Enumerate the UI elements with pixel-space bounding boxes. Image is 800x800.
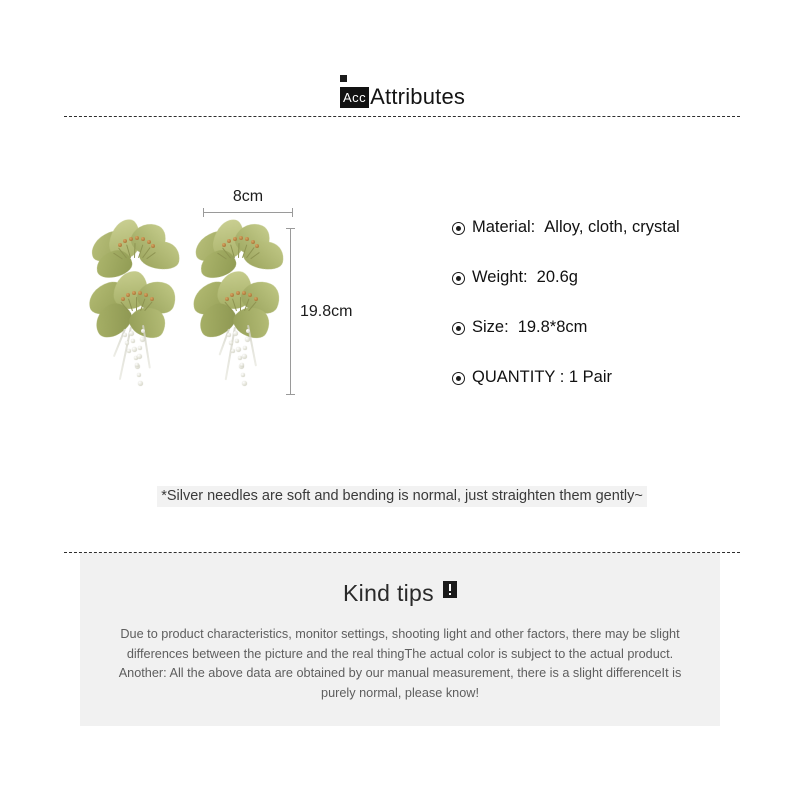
needle-note-text: *Silver needles are soft and bending is … xyxy=(157,486,647,507)
attribute-value: 19.8*8cm xyxy=(518,318,588,337)
attribute-value: Alloy, cloth, crystal xyxy=(544,218,679,237)
kind-tips-panel: Kind tips Due to product characteristics… xyxy=(80,553,720,726)
earring-right xyxy=(192,215,296,400)
target-dot-icon xyxy=(452,272,465,285)
height-measure-line xyxy=(290,228,291,395)
attribute-label: QUANTITY : 1 Pair xyxy=(472,368,612,387)
target-dot-icon xyxy=(452,322,465,335)
square-dot-icon xyxy=(340,75,347,82)
height-label: 19.8cm xyxy=(300,303,352,321)
attribute-label: Size: xyxy=(472,318,509,337)
product-attributes-page: Acc Attributes xyxy=(0,0,800,800)
exclamation-icon xyxy=(443,581,457,598)
attribute-row-size: Size: 19.8*8cm xyxy=(452,318,752,337)
needle-note: *Silver needles are soft and bending is … xyxy=(64,486,740,506)
attribute-row-material: Material: Alloy, cloth, crystal xyxy=(452,218,752,237)
target-dot-icon xyxy=(452,222,465,235)
kind-tips-title-text: Kind tips xyxy=(343,580,434,606)
attribute-label: Material: xyxy=(472,218,535,237)
target-dot-icon xyxy=(452,372,465,385)
acc-badge: Acc xyxy=(340,87,369,108)
product-image xyxy=(72,215,302,415)
attribute-value: 20.6g xyxy=(537,268,578,287)
divider-top xyxy=(64,116,740,117)
page-title: Attributes xyxy=(370,85,465,108)
acc-badge-wrap: Acc xyxy=(340,87,369,108)
attribute-row-weight: Weight: 20.6g xyxy=(452,268,752,287)
width-label: 8cm xyxy=(203,188,293,206)
page-header: Acc Attributes xyxy=(340,68,465,108)
earring-left xyxy=(88,215,192,400)
kind-tips-title: Kind tips xyxy=(80,580,720,607)
attribute-list: Material: Alloy, cloth, crystal Weight: … xyxy=(452,218,752,418)
width-measure-line xyxy=(203,212,293,213)
attribute-row-quantity: QUANTITY : 1 Pair xyxy=(452,368,752,387)
attribute-label: Weight: xyxy=(472,268,528,287)
kind-tips-body: Due to product characteristics, monitor … xyxy=(106,625,694,703)
